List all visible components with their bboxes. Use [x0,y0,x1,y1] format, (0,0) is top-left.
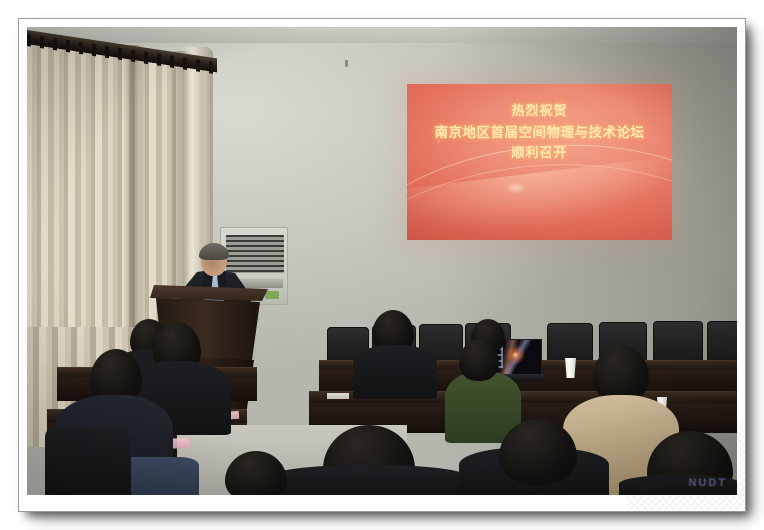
curtain-fold [123,45,143,357]
wall-speck [345,60,348,67]
chair-back-8 [707,321,737,361]
slide-glow-spot [505,182,527,194]
projection-screen: 热烈祝贺 南京地区首届空间物理与技术论坛 顺利召开 [407,84,672,240]
slide-line-2: 南京地区首届空间物理与技术论坛 [407,123,672,144]
chair-back-7 [653,321,703,361]
slide-text-block: 热烈祝贺 南京地区首届空间物理与技术论坛 顺利召开 [407,102,672,164]
chair-back-5 [547,323,593,361]
presenter-hair [199,243,229,260]
slide-line-1: 热烈祝贺 [407,102,672,123]
person-right-front-body [619,475,737,495]
conference-photograph: 热烈祝贺 南京地区首届空间物理与技术论坛 顺利召开 [27,27,737,495]
person-center-back-body [353,345,437,399]
backpack-left [45,427,131,495]
framed-photo-root: 热烈祝贺 南京地区首届空间物理与技术论坛 顺利召开 [0,0,764,530]
person-front-center-body [271,465,467,495]
slide-line-3: 顺利召开 [407,144,672,165]
white-handout-center [327,393,349,399]
person-center-green-head [459,339,499,381]
